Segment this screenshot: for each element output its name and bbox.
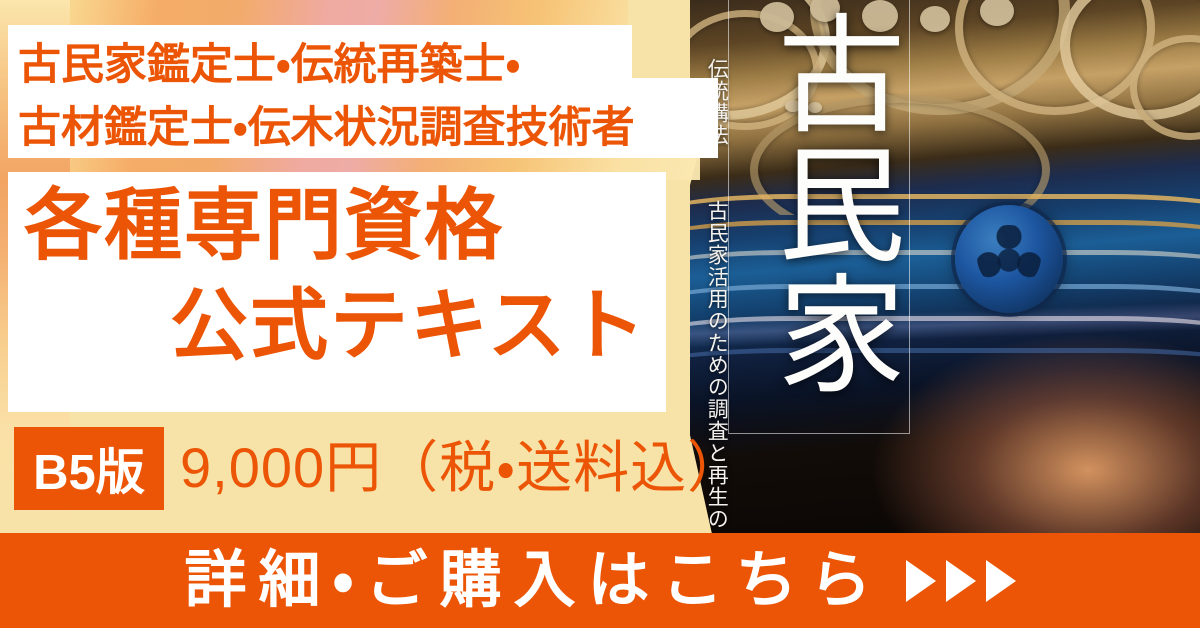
- book-cover-image: 伝統構法 古民家活用のための調査と再生の 古民家: [690, 0, 1200, 534]
- cta-label: 詳細・ご購入はこちら: [184, 550, 883, 612]
- family-crest-icon: [955, 205, 1063, 313]
- headline-line-1: 古民家鑑定士・伝統再築士・: [18, 34, 724, 97]
- headline-block: 古民家鑑定士・伝統再築士・ 古材鑑定士・伝木状況調査技術者: [18, 34, 724, 160]
- cover-title: 古民家: [746, 8, 896, 398]
- promo-banner: 伝統構法 古民家活用のための調査と再生の 古民家 古民家鑑定士・伝統再築士・ 古…: [0, 0, 1200, 628]
- triangle-right-icon: [906, 560, 936, 602]
- cta-arrow-group: [906, 560, 1016, 602]
- main-title-line-2: 公式テキスト: [170, 286, 648, 364]
- cta-bar[interactable]: 詳細・ご購入はこちら: [0, 533, 1200, 628]
- triangle-right-icon: [946, 560, 976, 602]
- format-badge: B5版: [14, 427, 164, 510]
- main-title-line-1: 各種専門資格: [24, 186, 504, 264]
- triangle-right-icon: [986, 560, 1016, 602]
- headline-line-2: 古材鑑定士・伝木状況調査技術者: [18, 97, 724, 160]
- price-text: 9,000円（税・送料込）: [180, 432, 744, 504]
